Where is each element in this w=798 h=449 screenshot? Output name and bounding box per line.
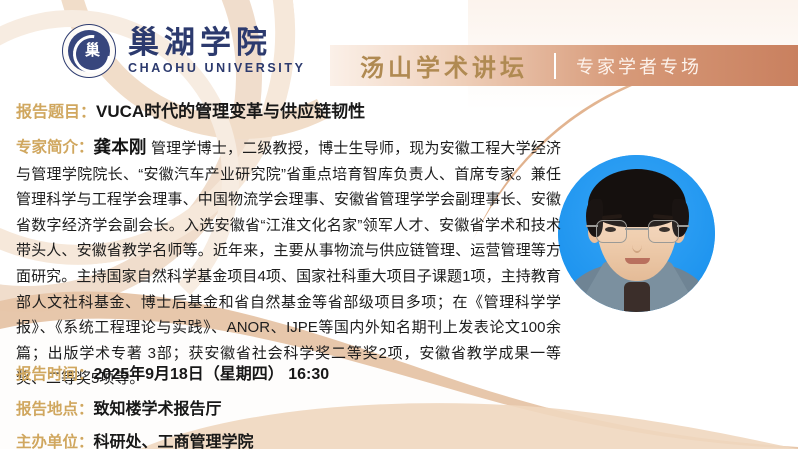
lecture-host-label: 主办单位： [16, 430, 94, 449]
lecture-place-value: 致知楼学术报告厅 [94, 395, 222, 419]
portrait-nose [632, 237, 642, 253]
seal-glyph: 巢 [85, 43, 100, 59]
portrait-glasses-temple-left [586, 225, 598, 227]
lecture-place-label: 报告地点： [16, 397, 94, 419]
speaker-portrait [558, 155, 715, 312]
banner-divider [554, 53, 556, 79]
lecture-host-row: 主办单位： 科研处、工商管理学院 [16, 428, 254, 449]
portrait-tie [624, 282, 650, 312]
portrait-glasses-temple-right [677, 225, 689, 227]
university-logo-block: 巢 巢湖学院 CHAOHU UNIVERSITY [62, 24, 306, 78]
lecture-time-value: 2025年9月18日（星期四） 16:30 [94, 360, 330, 384]
lecture-time-row: 报告时间： 2025年9月18日（星期四） 16:30 [16, 360, 329, 384]
speaker-bio-text: 管理学博士，二级教授，博士生导师，现为安徽工程大学经济与管理学院院长、“安徽汽车… [16, 140, 561, 387]
banner-main-title: 汤山学术讲坛 [360, 48, 528, 83]
lecture-title-row: 报告题目： VUCA时代的管理变革与供应链韧性 [16, 97, 365, 122]
lecture-title-label: 报告题目： [16, 98, 96, 122]
portrait-glasses-bridge [625, 228, 649, 230]
university-name-en: CHAOHU UNIVERSITY [128, 60, 306, 76]
university-name-cn: 巢湖学院 [128, 26, 306, 60]
speaker-bio-text-block: 专家简介： 龚本刚 管理学博士，二级教授，博士生导师，现为安徽工程大学经济与管理… [16, 135, 561, 392]
lecture-title-value: VUCA时代的管理变革与供应链韧性 [96, 97, 365, 122]
speaker-bio-row: 专家简介： 龚本刚 管理学博士，二级教授，博士生导师，现为安徽工程大学经济与管理… [16, 135, 561, 392]
lecture-time-label: 报告时间： [16, 362, 94, 384]
speaker-name: 龚本刚 [94, 137, 147, 157]
lecture-place-row: 报告地点： 致知楼学术报告厅 [16, 395, 222, 419]
lecture-series-banner: 汤山学术讲坛 专家学者专场 [330, 45, 798, 86]
banner-subtitle: 专家学者专场 [576, 53, 702, 79]
university-seal-icon: 巢 [62, 24, 116, 78]
portrait-mouth [625, 258, 650, 264]
university-name-block: 巢湖学院 CHAOHU UNIVERSITY [128, 26, 306, 76]
portrait-glasses-lens-right [648, 220, 679, 243]
speaker-bio-label: 专家简介： [16, 135, 94, 161]
academic-lecture-poster: 巢 巢湖学院 CHAOHU UNIVERSITY 汤山学术讲坛 专家学者专场 [0, 0, 798, 449]
poster-header: 巢 巢湖学院 CHAOHU UNIVERSITY 汤山学术讲坛 专家学者专场 [0, 0, 798, 92]
portrait-glasses-lens-left [596, 220, 627, 243]
lecture-host-value: 科研处、工商管理学院 [94, 428, 254, 449]
